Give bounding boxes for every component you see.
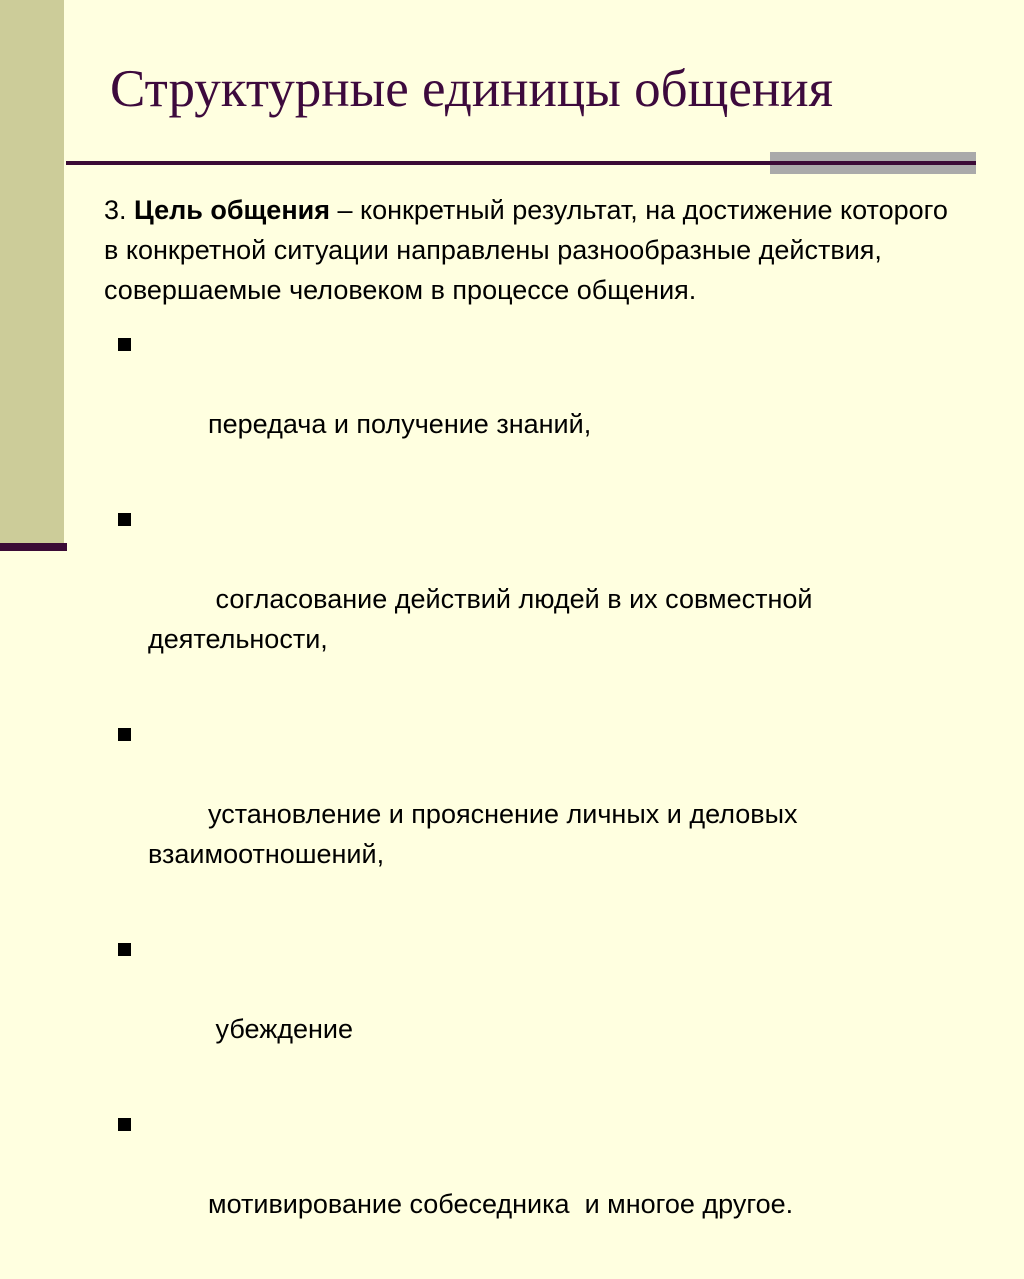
slide-title: Структурные единицы общения bbox=[110, 58, 990, 120]
list-item-label: убеждение bbox=[208, 1014, 353, 1044]
list-item-label: передача и получение знаний, bbox=[208, 409, 591, 439]
list-item-label: установление и прояснение личных и делов… bbox=[148, 799, 805, 869]
left-decorative-bar bbox=[0, 0, 64, 543]
intro-paragraph: 3. Цель общения – конкретный результат, … bbox=[104, 190, 964, 310]
list-item: мотивирование собеседника и многое друго… bbox=[104, 1104, 988, 1264]
slide-body: 3. Цель общения – конкретный результат, … bbox=[104, 190, 994, 1279]
title-divider-line bbox=[66, 161, 976, 165]
slide: Структурные единицы общения 3. Цель обще… bbox=[0, 0, 1024, 767]
list-item-label: мотивирование собеседника и многое друго… bbox=[208, 1189, 793, 1219]
left-bar-accent-cap bbox=[0, 543, 67, 551]
square-bullet-icon bbox=[118, 943, 131, 956]
square-bullet-icon bbox=[118, 728, 131, 741]
bullet-list: передача и получение знаний, согласовани… bbox=[104, 324, 994, 1264]
list-item: установление и прояснение личных и делов… bbox=[104, 714, 988, 914]
list-item: убеждение bbox=[104, 929, 988, 1089]
square-bullet-icon bbox=[118, 513, 131, 526]
square-bullet-icon bbox=[118, 1118, 131, 1131]
square-bullet-icon bbox=[118, 338, 131, 351]
intro-term: Цель общения bbox=[134, 195, 330, 225]
list-item: передача и получение знаний, bbox=[104, 324, 988, 484]
list-item: согласование действий людей в их совмест… bbox=[104, 499, 988, 699]
intro-number: 3. bbox=[104, 195, 134, 225]
list-item-label: согласование действий людей в их совмест… bbox=[148, 584, 820, 654]
